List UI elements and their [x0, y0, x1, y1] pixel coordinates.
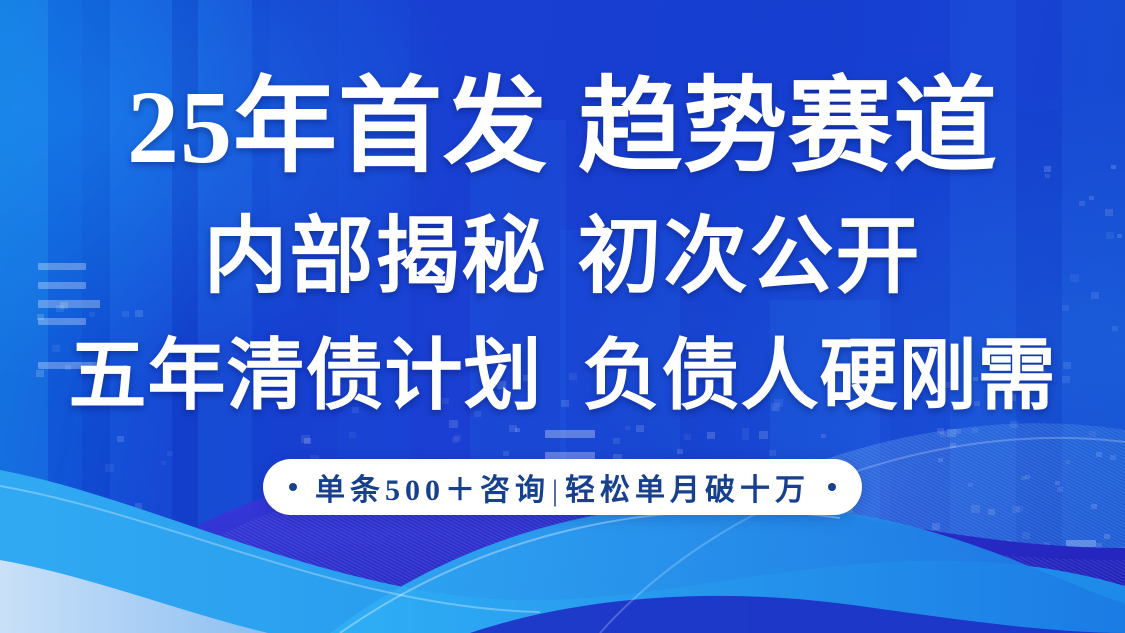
- headline-line-3-part-b: 负债人硬刚需: [583, 332, 1057, 419]
- headline-line-1-part-b: 趋势赛道: [578, 70, 998, 185]
- subheadline-text-b: 轻松单月破十万: [565, 474, 810, 507]
- subheadline-banner-wrap: 单条500＋咨询|轻松单月破十万: [0, 459, 1125, 515]
- headline-line-3: 五年清债计划负债人硬刚需: [0, 337, 1125, 415]
- headline-line-2: 内部揭秘初次公开: [0, 216, 1125, 300]
- subheadline-text: 单条500＋咨询|轻松单月破十万: [315, 465, 810, 509]
- headline-line-1-part-a: 25年首发: [127, 70, 548, 185]
- subheadline-separator: |: [550, 474, 565, 507]
- headline-line-1: 25年首发趋势赛道: [0, 76, 1125, 180]
- poster-canvas: 25年首发趋势赛道 内部揭秘初次公开 五年清债计划负债人硬刚需 单条500＋咨询…: [0, 0, 1125, 633]
- headline-line-3-part-a: 五年清债计划: [68, 332, 542, 419]
- subheadline-banner: 单条500＋咨询|轻松单月破十万: [263, 459, 862, 515]
- subheadline-text-a: 单条500＋咨询: [315, 474, 550, 507]
- bullet-dot-icon-left: [289, 483, 297, 491]
- headline-line-2-part-a: 内部揭秘: [203, 211, 547, 304]
- bullet-dot-icon-right: [828, 483, 836, 491]
- headline-line-2-part-b: 初次公开: [578, 211, 922, 304]
